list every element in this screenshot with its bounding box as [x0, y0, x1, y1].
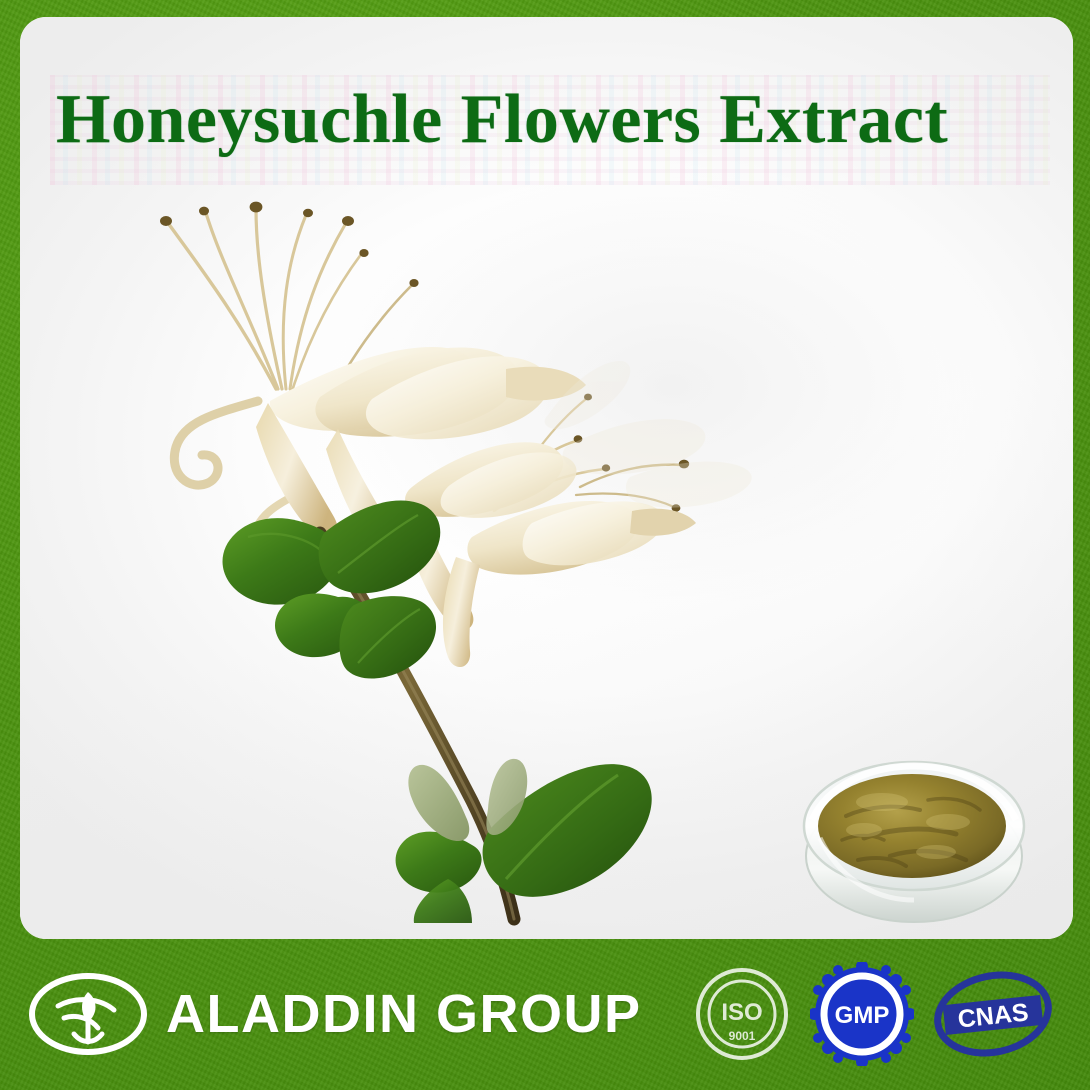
- svg-text:9001: 9001: [729, 1029, 756, 1043]
- company-banner: ALADDIN GROUP ISO 9001: [0, 938, 1090, 1090]
- svg-text:ISO: ISO: [721, 999, 762, 1026]
- aladdin-oval-plant-logo: [24, 966, 152, 1062]
- extract-powder-dish: [798, 734, 1030, 938]
- cnas-certification-badge: CNAS: [930, 964, 1056, 1064]
- gmp-certification-badge: GMP: [810, 962, 914, 1066]
- svg-text:GMP: GMP: [835, 1002, 890, 1029]
- product-banner: Honeysuchle Flowers Extract: [0, 0, 1090, 1090]
- certification-badges: ISO 9001: [690, 962, 1056, 1066]
- company-name: ALADDIN GROUP: [166, 983, 642, 1045]
- product-card: Honeysuchle Flowers Extract: [20, 17, 1073, 939]
- svg-text:CNAS: CNAS: [956, 998, 1029, 1033]
- iso-certification-badge: ISO 9001: [690, 962, 794, 1066]
- page-title: Honeysuchle Flowers Extract: [56, 85, 1066, 155]
